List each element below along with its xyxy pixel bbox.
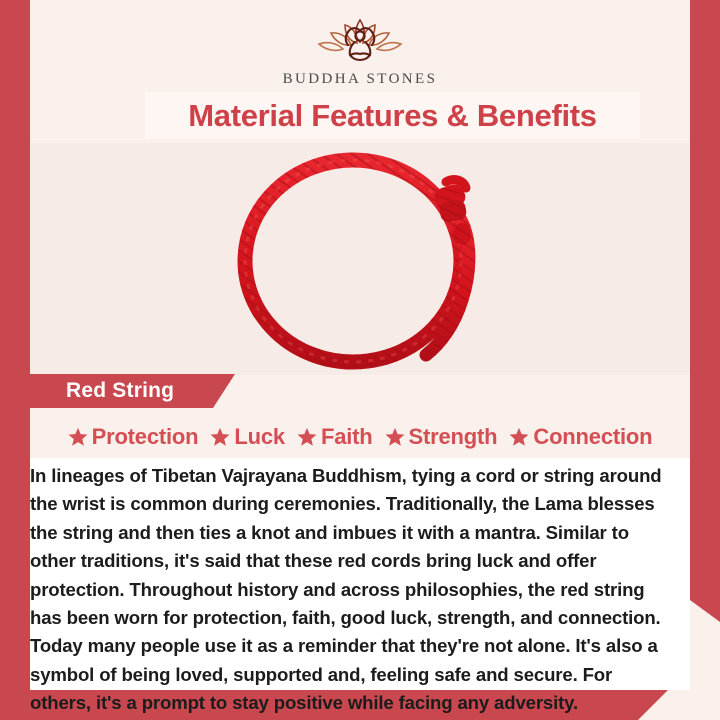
lotus-meditation-icon <box>305 14 415 69</box>
feature-label: Strength <box>409 424 498 450</box>
description-panel: In lineages of Tibetan Vajrayana Buddhis… <box>30 458 690 690</box>
feature-label: Connection <box>533 424 652 450</box>
star-icon <box>509 427 529 447</box>
brand-logo: BUDDHA STONES <box>30 14 690 88</box>
hero-image-area <box>30 143 690 375</box>
star-icon <box>385 427 405 447</box>
content-canvas: BUDDHA STONES Material Features & Benefi… <box>30 0 690 690</box>
feature-item-protection: Protection <box>68 424 199 450</box>
red-string-bracelet-image <box>226 148 494 370</box>
feature-item-connection: Connection <box>509 424 652 450</box>
product-name: Red String <box>66 379 174 403</box>
product-ribbon: Red String <box>30 374 235 408</box>
feature-list: Protection Luck Faith Strength <box>30 418 690 456</box>
brand-name: BUDDHA STONES <box>30 71 690 88</box>
star-icon <box>68 427 88 447</box>
page-title: Material Features & Benefits <box>188 98 597 134</box>
title-banner: Material Features & Benefits <box>145 92 640 139</box>
feature-item-luck: Luck <box>210 424 285 450</box>
description-text: In lineages of Tibetan Vajrayana Buddhis… <box>30 462 666 718</box>
feature-label: Protection <box>92 424 199 450</box>
feature-label: Luck <box>234 424 285 450</box>
feature-item-strength: Strength <box>385 424 498 450</box>
feature-label: Faith <box>321 424 373 450</box>
star-icon <box>297 427 317 447</box>
star-icon <box>210 427 230 447</box>
decorative-band-right <box>690 30 720 622</box>
feature-item-faith: Faith <box>297 424 373 450</box>
decorative-band-left <box>0 0 30 720</box>
infographic-page: BUDDHA STONES Material Features & Benefi… <box>0 0 720 720</box>
